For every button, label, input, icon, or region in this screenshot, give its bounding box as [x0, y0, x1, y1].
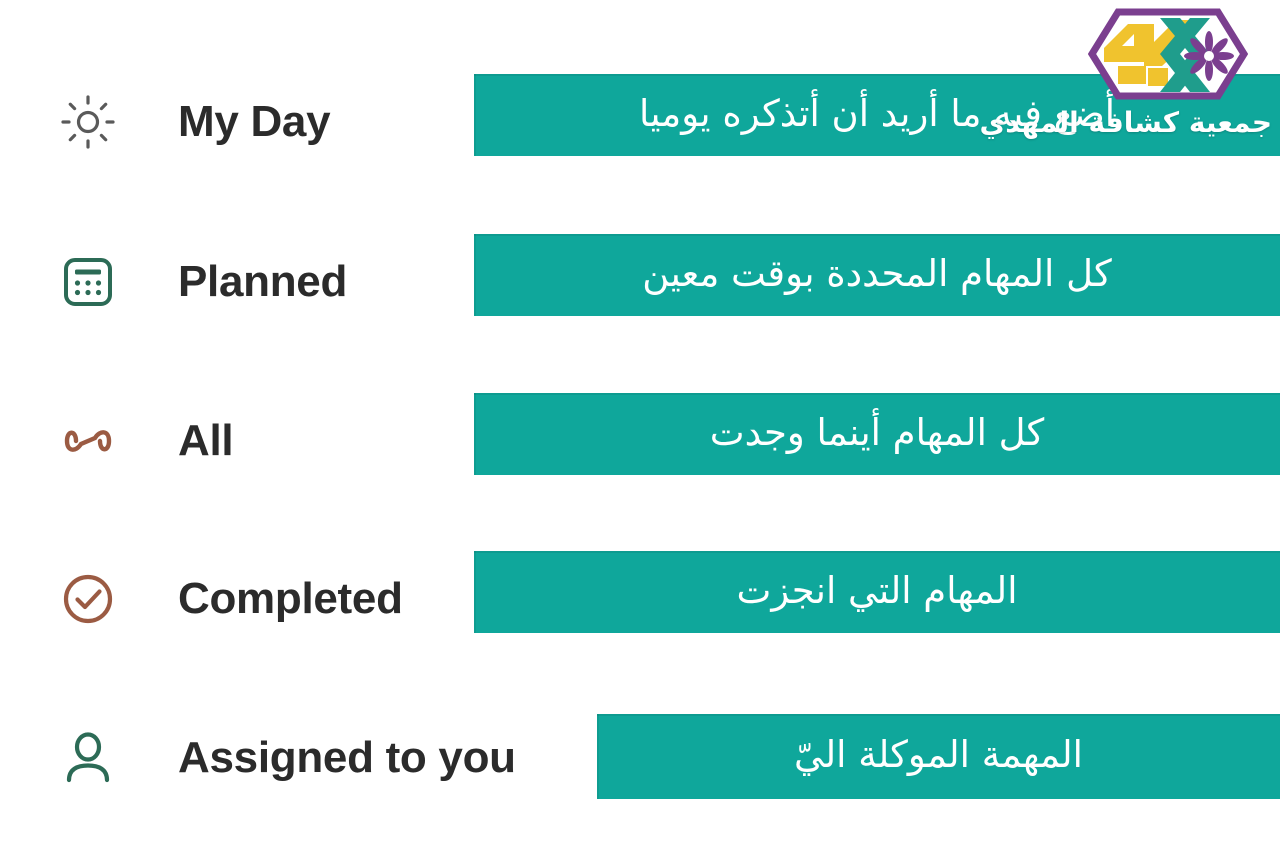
description-text-my-day: أضع فيه ما أريد أن أتذكره يوميا [639, 95, 1115, 136]
nav-row-planned[interactable]: Planned كل المهام المحددة بوقت معين [0, 196, 1280, 356]
task-nav-screen: My Day أضع فيه ما أريد أن أتذكره يوميا P… [0, 0, 1280, 853]
description-text-all: كل المهام أينما وجدت [710, 414, 1045, 455]
description-text-assigned-to-you: المهمة الموكلة اليّ [794, 736, 1083, 777]
person-icon [52, 722, 124, 794]
nav-label-my-day: My Day [178, 86, 330, 158]
nav-row-all[interactable]: All كل المهام أينما وجدت [0, 355, 1280, 515]
nav-label-all: All [178, 405, 233, 477]
nav-row-my-day[interactable]: My Day أضع فيه ما أريد أن أتذكره يوميا [0, 36, 1280, 196]
nav-label-planned: Planned [178, 246, 347, 318]
nav-row-completed[interactable]: Completed المهام التي انجزت [0, 513, 1280, 673]
nav-label-completed: Completed [178, 563, 403, 635]
description-banner-completed: المهام التي انجزت [474, 551, 1280, 633]
description-text-completed: المهام التي انجزت [737, 572, 1018, 613]
sun-icon [52, 86, 124, 158]
infinity-icon [52, 405, 124, 477]
description-text-planned: كل المهام المحددة بوقت معين [642, 255, 1111, 296]
calendar-icon [52, 246, 124, 318]
description-banner-my-day: أضع فيه ما أريد أن أتذكره يوميا [474, 74, 1280, 156]
nav-label-assigned-to-you: Assigned to you [178, 722, 516, 794]
description-banner-assigned-to-you: المهمة الموكلة اليّ [597, 714, 1280, 799]
nav-row-assigned-to-you[interactable]: Assigned to you المهمة الموكلة اليّ [0, 672, 1280, 832]
description-banner-all: كل المهام أينما وجدت [474, 393, 1280, 475]
description-banner-planned: كل المهام المحددة بوقت معين [474, 234, 1280, 316]
check-circle-icon [52, 563, 124, 635]
